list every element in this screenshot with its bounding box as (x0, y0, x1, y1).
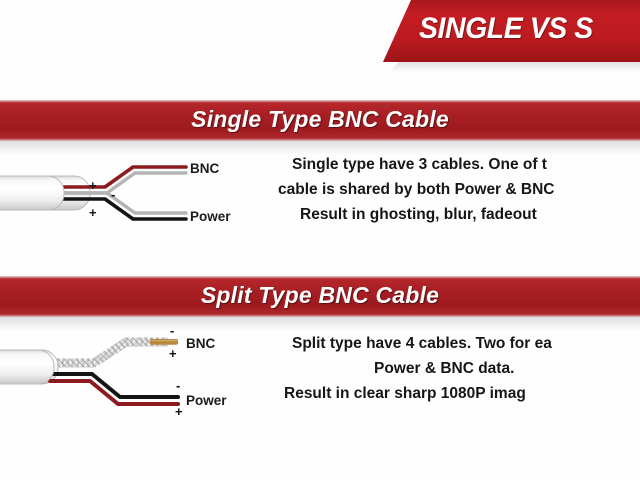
title-banner: SINGLE VS S (383, 0, 640, 62)
polarity-plus-bottom: + (89, 206, 97, 219)
single-type-description: Single type have 3 cables. One of t cabl… (292, 152, 554, 227)
bnc-polarity-plus: + (169, 347, 177, 360)
polarity-plus-top: + (89, 179, 97, 192)
single-desc-line-2: cable is shared by both Power & BNC (278, 177, 554, 202)
title-banner-shadow (383, 62, 640, 72)
title-banner-text: SINGLE VS S (419, 12, 593, 46)
polarity-minus-middle: - (111, 188, 115, 201)
poster-canvas: SINGLE VS S Single Type BNC Cable Single… (0, 0, 640, 480)
bnc-label: BNC (190, 161, 219, 176)
split-desc-line-3: Result in clear sharp 1080P imag (284, 381, 552, 406)
cable-jacket-lip (0, 350, 54, 384)
power-polarity-plus: + (175, 405, 183, 418)
single-desc-line-3: Result in ghosting, blur, fadeout (300, 202, 554, 227)
section-header-split-label: Split Type BNC Cable (201, 282, 439, 309)
bnc-polarity-minus: - (170, 324, 174, 337)
split-desc-line-2: Power & BNC data. (374, 356, 552, 381)
section-header-single: Single Type BNC Cable (0, 100, 640, 141)
split-cable-illustration (0, 325, 270, 435)
section-header-single-label: Single Type BNC Cable (191, 106, 449, 133)
bnc-coax-shield (52, 342, 168, 363)
power-label: Power (186, 393, 227, 408)
split-type-cable-diagram: - + - + BNC Power (0, 325, 270, 435)
section-header-split: Split Type BNC Cable (0, 276, 640, 317)
bnc-copper-pin (150, 339, 178, 345)
split-desc-line-1: Split type have 4 cables. Two for ea (292, 331, 552, 356)
single-cable-illustration (0, 152, 270, 262)
power-label: Power (190, 209, 231, 224)
power-polarity-minus: - (176, 379, 180, 392)
single-type-cable-diagram: + - + BNC Power (0, 152, 270, 262)
cable-jacket-lip (0, 176, 64, 210)
single-desc-line-1: Single type have 3 cables. One of t (292, 152, 554, 177)
bnc-label: BNC (186, 336, 215, 351)
split-type-description: Split type have 4 cables. Two for ea Pow… (292, 331, 552, 406)
power-branch (50, 374, 178, 404)
